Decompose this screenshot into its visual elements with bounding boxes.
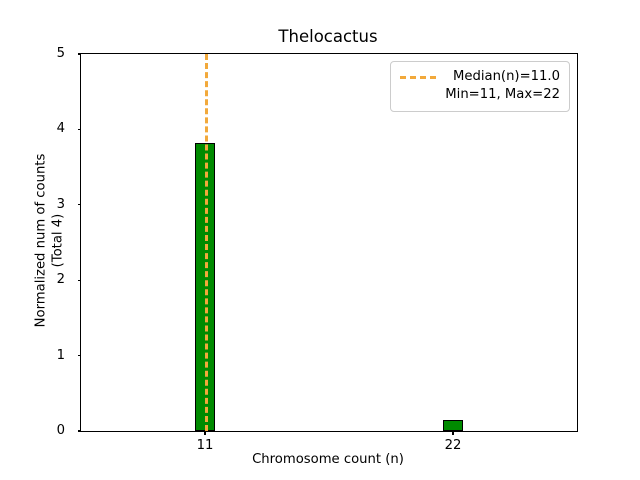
y-tick-label: 3	[25, 196, 65, 214]
y-tick-mark	[78, 355, 82, 356]
x-tick-mark	[204, 431, 205, 435]
y-tick-mark	[78, 53, 82, 54]
chart-title: Thelocactus	[80, 27, 576, 47]
legend-entry-minmax: Min=11, Max=22	[445, 86, 560, 104]
y-tick-label: 2	[25, 271, 65, 289]
y-tick-label: 0	[25, 422, 65, 440]
y-axis-label: Normalized num of counts	[33, 1, 50, 480]
y-axis-label-subtitle: (Total 4)	[50, 1, 67, 480]
legend-dashed-line-icon	[400, 76, 436, 79]
bar-22	[443, 420, 463, 431]
y-tick-label: 4	[25, 120, 65, 138]
y-tick-mark	[78, 129, 82, 130]
x-axis-label: Chromosome count (n)	[80, 452, 576, 467]
legend: Median(n)=11.0 Min=11, Max=22	[390, 61, 570, 112]
x-tick-mark	[452, 431, 453, 435]
plot-area: 0 1 2 3 4 5 11 22	[80, 53, 578, 432]
legend-entry-median: Median(n)=11.0	[453, 68, 560, 86]
legend-text: Median(n)=11.0 Min=11, Max=22	[445, 68, 560, 104]
y-tick-label: 1	[25, 347, 65, 365]
y-tick-label: 5	[25, 45, 65, 63]
median-line	[205, 54, 208, 431]
y-tick-mark	[78, 430, 82, 431]
y-tick-mark	[78, 204, 82, 205]
y-tick-mark	[78, 280, 82, 281]
matplotlib-figure: Thelocactus Normalized num of counts (To…	[0, 0, 640, 480]
